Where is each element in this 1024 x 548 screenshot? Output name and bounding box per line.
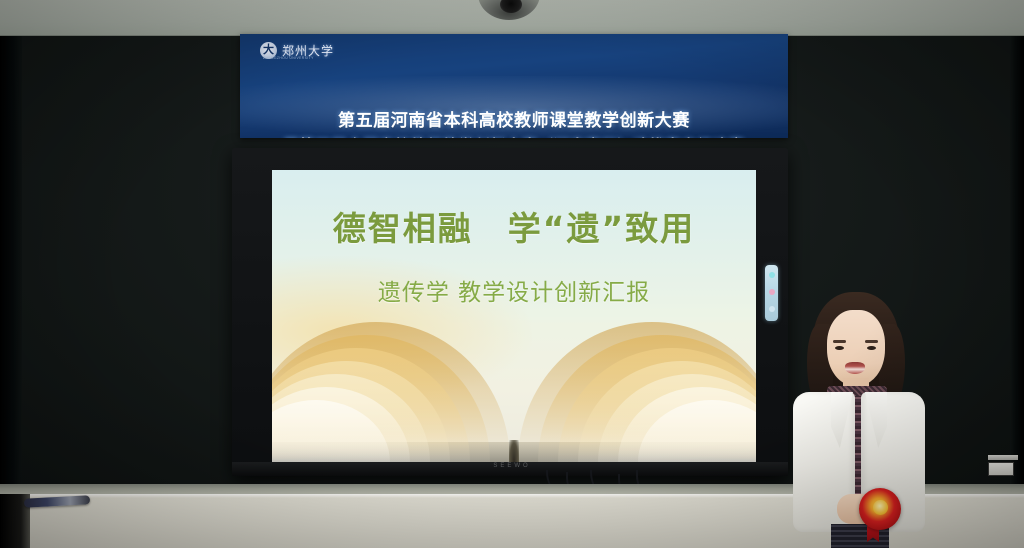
banner-line-2: 暨第四届全国高校教师教学创新大赛（河南赛区）选拔赛省级决赛: [240, 134, 788, 138]
slide-subtitle: 遗传学 教学设计创新汇报: [272, 273, 756, 307]
banner-line-1: 第五届河南省本科高校教师课堂教学创新大赛: [240, 106, 788, 131]
wall-light-switch[interactable]: [988, 462, 1014, 476]
badge-center-icon: [873, 500, 888, 515]
presenter-eye-right: [867, 346, 876, 350]
presenter-eye-left: [835, 346, 844, 350]
slide-title: 德智相融 学“遗”致用: [272, 202, 756, 250]
open-book-photo: [272, 310, 756, 462]
book-spine: [509, 440, 519, 462]
presenter-brow-left: [833, 340, 846, 343]
competition-banner: 大 郑州大学 ZHENGZHOU UNIVERSITY 第五届河南省本科高校教师…: [240, 34, 788, 138]
blackboard-right-edge: [1010, 36, 1024, 490]
wall-switch-plate: [988, 455, 1018, 460]
blackboard-left-edge: [0, 36, 22, 490]
university-name-en: ZHENGZHOU UNIVERSITY: [263, 56, 314, 60]
classroom-scene: 大 郑州大学 ZHENGZHOU UNIVERSITY 第五届河南省本科高校教师…: [0, 0, 1024, 548]
presenter-brow-right: [865, 340, 878, 343]
slide-content-area: 德智相融 学“遗”致用 遗传学 教学设计创新汇报: [272, 170, 756, 462]
control-dot-icon[interactable]: [769, 306, 775, 312]
control-dot-icon[interactable]: [769, 272, 775, 278]
presenter-speaker: [775, 288, 943, 548]
control-dot-icon[interactable]: [769, 289, 775, 295]
presenter-mouth: [845, 362, 865, 374]
